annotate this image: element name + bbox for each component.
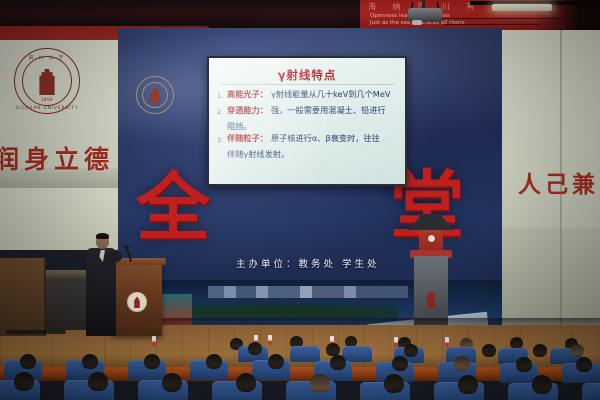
slide-item-number: 2.	[217, 105, 224, 119]
slide-item: 2. 穿透能力： 强，一般需要用混凝土、铅进行 阻挡。	[217, 105, 399, 133]
audience-head	[533, 344, 547, 357]
audience-head	[14, 372, 34, 391]
ceiling-wire	[440, 18, 560, 19]
auditorium-seat	[342, 346, 372, 362]
microphone-icon	[124, 245, 129, 249]
university-seal: 四 川 大 学 1896 SICHUAN UNIVERSITY	[14, 48, 80, 114]
slide-item-term: 高能光子：	[227, 89, 268, 103]
projection-screen-surface: γ射线特点 1. 高能光子： γ射线能量从几十keV到几个MeV 2. 穿透能力…	[209, 58, 405, 184]
slide-bullet-list: 1. 高能光子： γ射线能量从几十keV到几个MeV 2. 穿透能力： 强，一般…	[217, 89, 399, 160]
backdrop-seal-tower-icon	[150, 88, 161, 103]
water-bottle	[152, 336, 156, 346]
slide-item-body: γ射线能量从几十keV到几个MeV	[271, 89, 391, 103]
audience-head	[268, 354, 284, 369]
audience-head	[384, 374, 404, 393]
right-wall-panel	[498, 30, 600, 230]
audience-head	[88, 372, 108, 391]
pagoda-door	[427, 292, 435, 308]
audience-head	[20, 354, 36, 369]
audience-head	[206, 354, 222, 369]
audience-head	[162, 373, 182, 392]
slide-item-body: 原子核进行α、β衰变时，往往	[271, 133, 380, 147]
backdrop-seal-icon	[136, 76, 174, 114]
audience-head	[330, 355, 346, 370]
speaker-podium	[112, 262, 162, 336]
slide-item-number: 1.	[217, 89, 224, 103]
audience-head	[482, 344, 496, 357]
left-wall-motto: 润身立德	[0, 140, 120, 176]
slide-title: γ射线特点	[209, 67, 405, 83]
seal-tower-icon	[37, 69, 57, 95]
auditorium-seat	[582, 383, 600, 400]
slide-item: 3. 伴随粒子： 原子核进行α、β衰变时，往往 伴随γ射线发射。	[217, 133, 399, 161]
pagoda-lower-roof	[408, 222, 454, 230]
audience-head	[392, 356, 408, 371]
slide-item-continuation: 阻挡。	[227, 121, 399, 133]
ceiling-wire	[444, 24, 539, 25]
audience-head	[516, 357, 532, 372]
panorama-skyline	[208, 286, 408, 298]
podium-university-seal	[127, 292, 147, 312]
stage-side-lectern	[0, 258, 46, 336]
audience-head	[82, 354, 98, 369]
slide-item-term: 伴随粒子：	[227, 133, 268, 147]
seal-year: 1896	[15, 97, 79, 102]
audience-head	[248, 342, 262, 355]
audience-head	[532, 375, 552, 394]
slide-item-continuation: 伴随γ射线发射。	[227, 149, 399, 161]
audience-head	[144, 354, 160, 369]
auditorium-lecture-photo: 海 纳 百 川 有 容 乃 大 Openness leads to greatn…	[0, 0, 600, 400]
audience-head	[458, 375, 478, 394]
podium-seal-tower-icon	[134, 297, 141, 308]
slide-item-term: 穿透能力：	[227, 105, 268, 119]
right-wall-motto: 人己兼	[518, 165, 600, 199]
slide-item: 1. 高能光子： γ射线能量从几十keV到几个MeV	[217, 89, 399, 103]
slide-title-divider	[219, 84, 395, 85]
seal-name-cn: 四 川 大 学	[15, 55, 79, 61]
speaker-hair	[96, 233, 109, 239]
water-bottle	[268, 335, 272, 345]
ceiling-light-icon	[492, 4, 552, 11]
backdrop-pagoda-clock-tower	[406, 214, 456, 333]
clock-face-icon	[427, 234, 436, 243]
projector-lens	[412, 20, 422, 25]
auditorium-seat	[290, 346, 320, 362]
audience-head	[404, 344, 418, 357]
seal-name-en: SICHUAN UNIVERSITY	[15, 105, 79, 110]
audience-head	[236, 373, 256, 392]
projection-screen: γ射线特点 1. 高能光子： γ射线能量从几十keV到几个MeV 2. 穿透能力…	[207, 56, 407, 186]
audience-head	[570, 344, 584, 357]
audience-head	[576, 357, 592, 372]
audience-head	[454, 356, 470, 371]
audience-head	[310, 374, 330, 393]
audience-area	[0, 332, 600, 400]
slide-item-body: 强，一般需要用混凝土、铅进行	[271, 105, 386, 119]
water-bottle	[445, 337, 449, 347]
slide-item-number: 3.	[217, 133, 224, 147]
